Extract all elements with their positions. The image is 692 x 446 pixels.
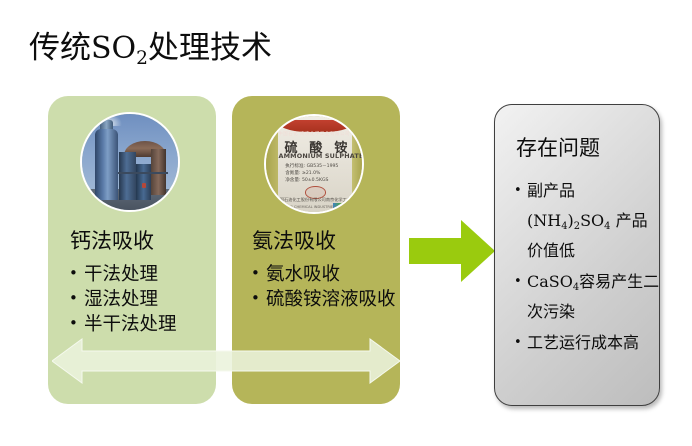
page-title-formula-subscript: 2 (136, 48, 148, 69)
flow-right-arrow-icon (409, 218, 495, 284)
photo-left-content (82, 114, 178, 210)
list-item: 湿法处理 (68, 287, 218, 312)
page-title-formula: SO2 (91, 31, 148, 66)
list-item: 氨水吸收 (250, 262, 396, 287)
problems-heading: 存在问题 (516, 135, 600, 161)
bag-color-stripe (333, 203, 354, 212)
page-title-suffix: 处理技术 (148, 30, 272, 66)
bag-specifications: 执行标准: GB535－1995 含氮量: ≥21.0% 净含量: 50±0.5… (285, 163, 350, 184)
bidirectional-arrow-icon (52, 337, 400, 385)
desulfurization-tower-photo (80, 112, 180, 212)
bag-english-name: AMMONIUM SULPHATE (278, 152, 353, 160)
problems-bullets: 副产品 (NH4)2SO4 产品价值低 CaSO4容易产生二次污染 工艺运行成本… (514, 176, 660, 359)
list-item: 半干法处理 (68, 312, 218, 337)
list-item: CaSO4容易产生二次污染 (514, 267, 660, 327)
list-item: 干法处理 (68, 262, 218, 287)
panel-calcium-bullets: 干法处理 湿法处理 半干法处理 (68, 262, 218, 337)
photo-right-content: 中国石化 南京化学工业有限公司 硫 酸 铵 AMMONIUM SULPHATE … (266, 116, 362, 212)
photo-red-marker (142, 183, 147, 188)
ammonium-sulphate-bag-photo: 中国石化 南京化学工业有限公司 硫 酸 铵 AMMONIUM SULPHATE … (264, 114, 364, 214)
photo-tower-second (119, 152, 135, 200)
bullet-tail-text: 工艺运行成本高 (527, 333, 639, 352)
formula-calcium-sulfate: CaSO4 (527, 272, 579, 291)
photo-tower-main (95, 129, 118, 200)
photo-steel-frame (118, 172, 168, 175)
panel-ammonia-bullets: 氨水吸收 硫酸铵溶液吸收 (250, 262, 396, 312)
list-item: 副产品 (NH4)2SO4 产品价值低 (514, 176, 660, 266)
page-title-prefix: 传统 (29, 30, 91, 66)
bag-spec-line: 净含量: 50±0.5KGS (285, 177, 350, 184)
page-title-formula-element: SO (91, 31, 136, 66)
bag-spec-line: 含氮量: ≥21.0% (285, 170, 350, 177)
bag-spec-line: 执行标准: GB535－1995 (285, 163, 350, 170)
bullet-lead-text: 副产品 (527, 181, 575, 200)
list-item: 工艺运行成本高 (514, 328, 660, 358)
panel-ammonia-heading: 氨法吸收 (252, 228, 336, 254)
page-title: 传统SO2处理技术 (29, 28, 272, 69)
list-item: 硫酸铵溶液吸收 (250, 287, 396, 312)
formula-ammonium-sulfate: (NH4)2SO4 (527, 211, 610, 230)
panel-calcium-heading: 钙法吸收 (70, 228, 154, 254)
